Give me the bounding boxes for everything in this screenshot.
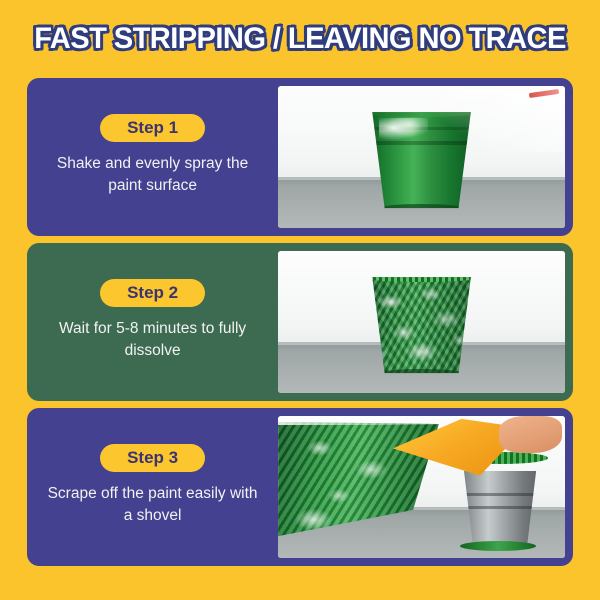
step-3-description: Scrape off the paint easily with a shove…: [48, 483, 258, 527]
step-1-text-column: Step 1 Shake and evenly spray the paint …: [27, 78, 278, 236]
page-title: FAST STRIPPING / LEAVING NO TRACE: [34, 22, 566, 56]
step-2-photo-scene: [278, 251, 565, 393]
step-2-badge: Step 2: [100, 279, 205, 307]
bucket-rim: [361, 108, 482, 117]
step-3-badge: Step 3: [100, 444, 205, 472]
wet-spray-patch: [379, 118, 428, 143]
step-panel-1: Step 1 Shake and evenly spray the paint …: [27, 78, 573, 236]
peel-edge-highlight: [278, 419, 444, 425]
step-2-text-column: Step 2 Wait for 5-8 minutes to fully dis…: [27, 243, 278, 401]
step-1-image: [278, 86, 565, 228]
step-3-image: [278, 416, 565, 558]
step-1-photo-scene: [278, 86, 565, 228]
step-panel-2: Step 2 Wait for 5-8 minutes to fully dis…: [27, 243, 573, 401]
spray-nozzle-icon: [529, 89, 559, 98]
step-2-image: [278, 251, 565, 393]
step-panel-3: Step 3 Scrape off the paint easily with …: [27, 408, 573, 566]
step-1-description: Shake and evenly spray the paint surface: [48, 153, 258, 197]
step-3-photo-scene: [278, 416, 565, 558]
step-1-badge: Step 1: [100, 114, 205, 142]
steps-list: Step 1 Shake and evenly spray the paint …: [0, 78, 600, 566]
metal-bucket-green-foot: [460, 541, 536, 551]
step-3-text-column: Step 3 Scrape off the paint easily with …: [27, 408, 278, 566]
step-2-description: Wait for 5-8 minutes to fully dissolve: [48, 318, 258, 362]
header: FAST STRIPPING / LEAVING NO TRACE: [0, 0, 600, 78]
infographic-root: FAST STRIPPING / LEAVING NO TRACE Step 1…: [0, 0, 600, 600]
bucket-rim: [361, 273, 482, 282]
hand-icon: [499, 416, 562, 453]
